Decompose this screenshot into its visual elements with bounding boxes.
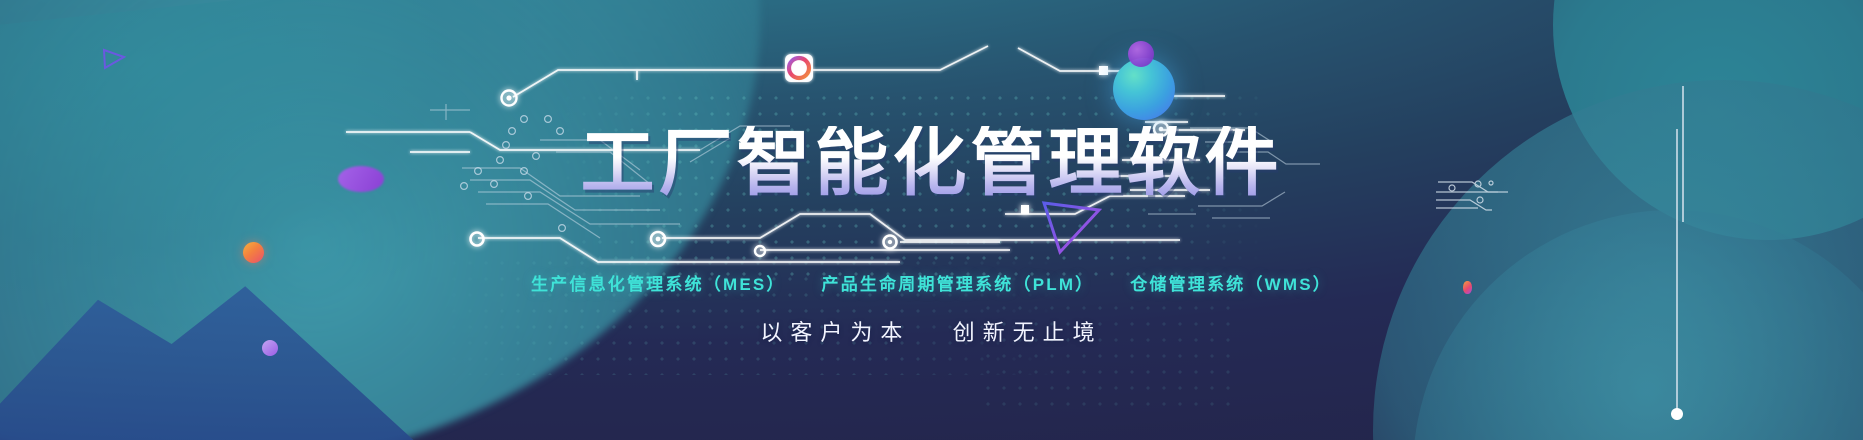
tagline-part-2: 创新无止境 xyxy=(953,320,1103,345)
product-item-wms: 仓储管理系统（WMS） xyxy=(1130,275,1332,294)
product-item-mes: 生产信息化管理系统（MES） xyxy=(531,275,786,294)
page-title: 工厂智能化管理软件 xyxy=(0,126,1863,200)
banner-content: 工厂智能化管理软件 生产信息化管理系统（MES） 产品生命周期管理系统（PLM）… xyxy=(0,0,1863,440)
product-item-plm: 产品生命周期管理系统（PLM） xyxy=(822,275,1095,294)
tagline: 以客户为本 创新无止境 xyxy=(0,315,1863,347)
tagline-part-1: 以客户为本 xyxy=(760,320,910,345)
hero-banner: 工厂智能化管理软件 生产信息化管理系统（MES） 产品生命周期管理系统（PLM）… xyxy=(0,0,1863,440)
product-list: 生产信息化管理系统（MES） 产品生命周期管理系统（PLM） 仓储管理系统（WM… xyxy=(0,270,1863,295)
